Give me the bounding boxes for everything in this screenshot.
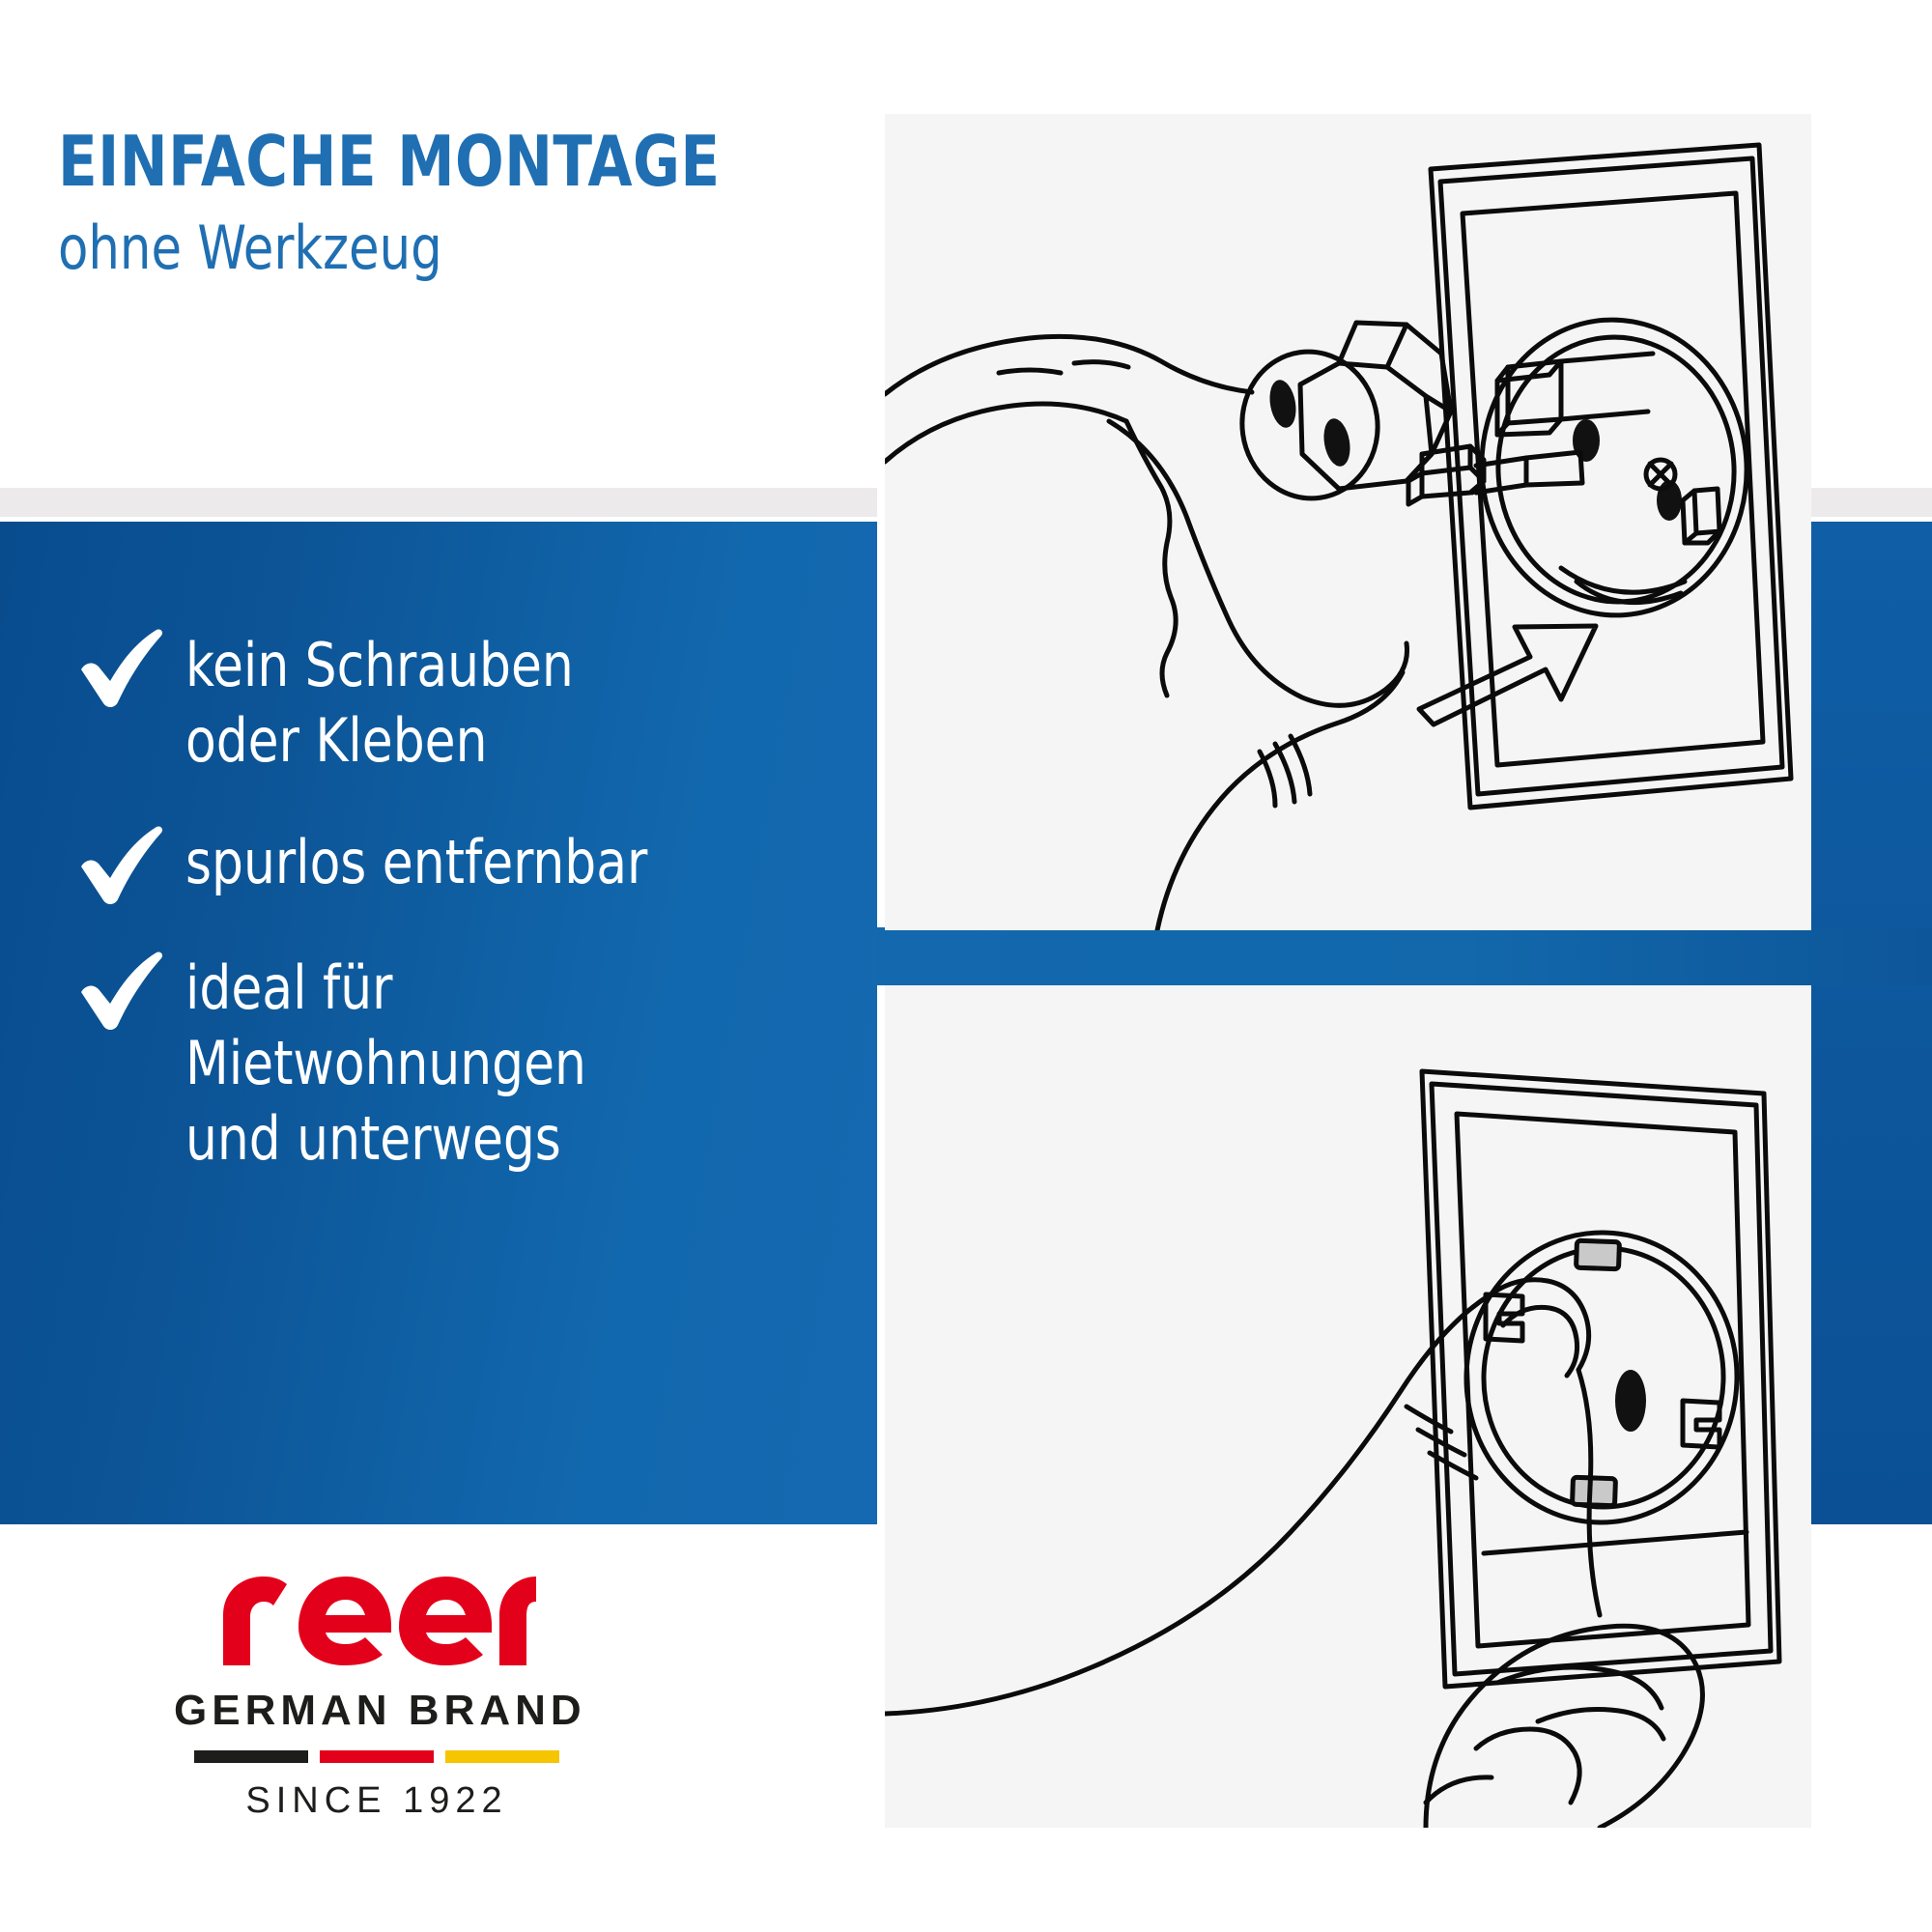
socket-insert-drawing-icon [885,114,1811,930]
headline-block: EINFACHE MONTAGE ohne Werkzeug [58,124,850,282]
brand-logo: GERMAN BRAND SINCE 1922 [174,1573,580,1822]
flag-bar-red [320,1750,434,1763]
list-item: kein Schrauben oder Kleben [75,626,838,779]
flag-bar-gold [445,1750,559,1763]
check-icon [75,823,168,904]
flag-bar-black [194,1750,308,1763]
list-item-label: spurlos entfernbar [185,823,647,900]
blue-center-bridge [877,927,1932,985]
grey-divider-strip-left [0,488,877,517]
list-item-label: ideal für Mietwohnungen und unterwegs [185,949,586,1177]
blue-right-band [1811,522,1932,1524]
list-item: spurlos entfernbar [75,823,838,904]
logo-tagline: GERMAN BRAND [174,1687,580,1735]
check-icon [75,949,168,1030]
check-icon [75,626,168,707]
headline-primary: EINFACHE MONTAGE [58,124,786,199]
list-item-label: kein Schrauben oder Kleben [185,626,574,779]
illustration-press-socket-cover [885,985,1811,1828]
feature-list: kein Schrauben oder Kleben spurlos entfe… [75,626,838,1221]
poster-canvas: EINFACHE MONTAGE ohne Werkzeug kein Schr… [0,0,1932,1932]
logo-since-label: SINCE 1922 [174,1780,580,1822]
illustration-insert-socket-cover [885,114,1811,930]
reer-wordmark-icon [217,1573,536,1665]
headline-secondary: ohne Werkzeug [58,214,786,282]
german-flag-icon [174,1750,580,1763]
socket-press-drawing-icon [885,985,1811,1828]
grey-divider-strip-right [1811,488,1932,517]
list-item: ideal für Mietwohnungen und unterwegs [75,949,838,1177]
